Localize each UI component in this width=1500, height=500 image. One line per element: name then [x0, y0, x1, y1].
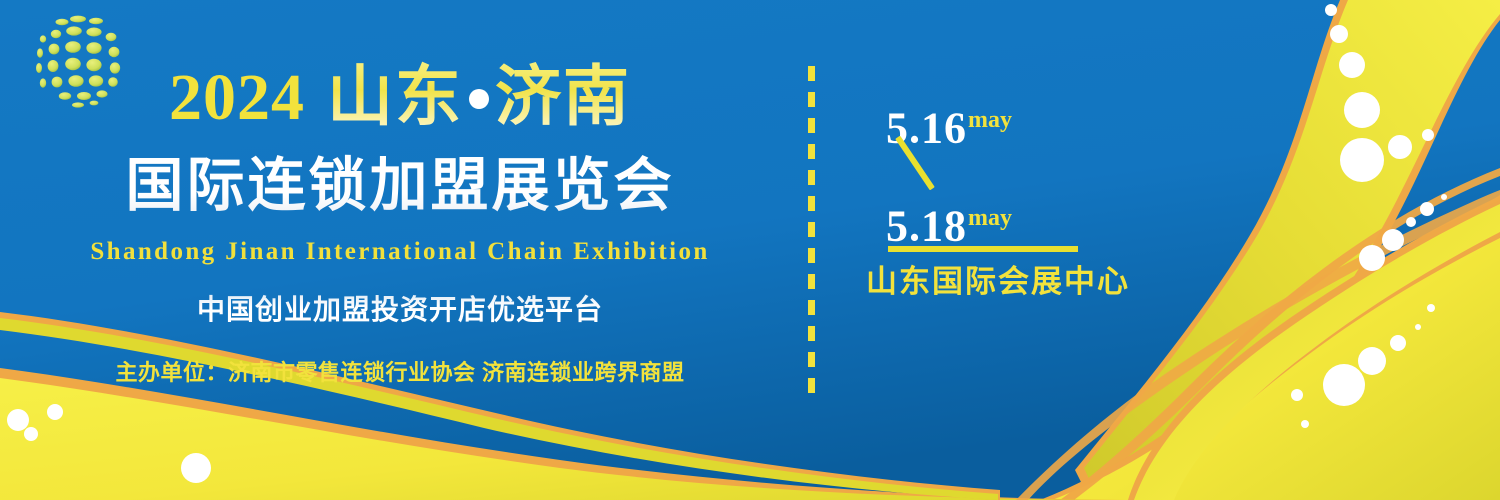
- headline-city-jinan: 济南: [495, 61, 631, 134]
- date-venue-block: 5.16may 5.18may 山东国际会展中心: [860, 96, 1140, 326]
- headline-block: 2024山东济南 国际连锁加盟展览会 Shandong Jinan Intern…: [0, 0, 800, 500]
- date-start-day: 5.16: [886, 104, 967, 153]
- exhibition-slogan: 中国创业加盟投资开店优选平台: [0, 291, 800, 329]
- exhibition-title-en: Shandong Jinan International Chain Exhib…: [0, 236, 800, 268]
- headline-year: 2024: [169, 61, 305, 134]
- headline-dot-separator: [469, 89, 489, 109]
- venue-name: 山东国际会展中心: [858, 262, 1138, 302]
- date-underline-rule: [888, 246, 1078, 252]
- headline-year-city: 2024山东济南: [0, 62, 800, 134]
- date-end: 5.18may: [886, 194, 1012, 251]
- dashed-divider: [808, 66, 815, 388]
- organizer-line: 主办单位：济南市零售连锁行业协会 济南连锁业跨界商盟: [0, 358, 800, 388]
- exhibition-title-cn: 国际连锁加盟展览会: [0, 152, 800, 220]
- date-end-month: may: [968, 205, 1012, 231]
- date-end-day: 5.18: [886, 202, 967, 251]
- date-start-month: may: [968, 107, 1012, 133]
- exhibition-banner: 2024山东济南 国际连锁加盟展览会 Shandong Jinan Intern…: [0, 0, 1500, 500]
- headline-city-shandong: 山东: [327, 61, 463, 134]
